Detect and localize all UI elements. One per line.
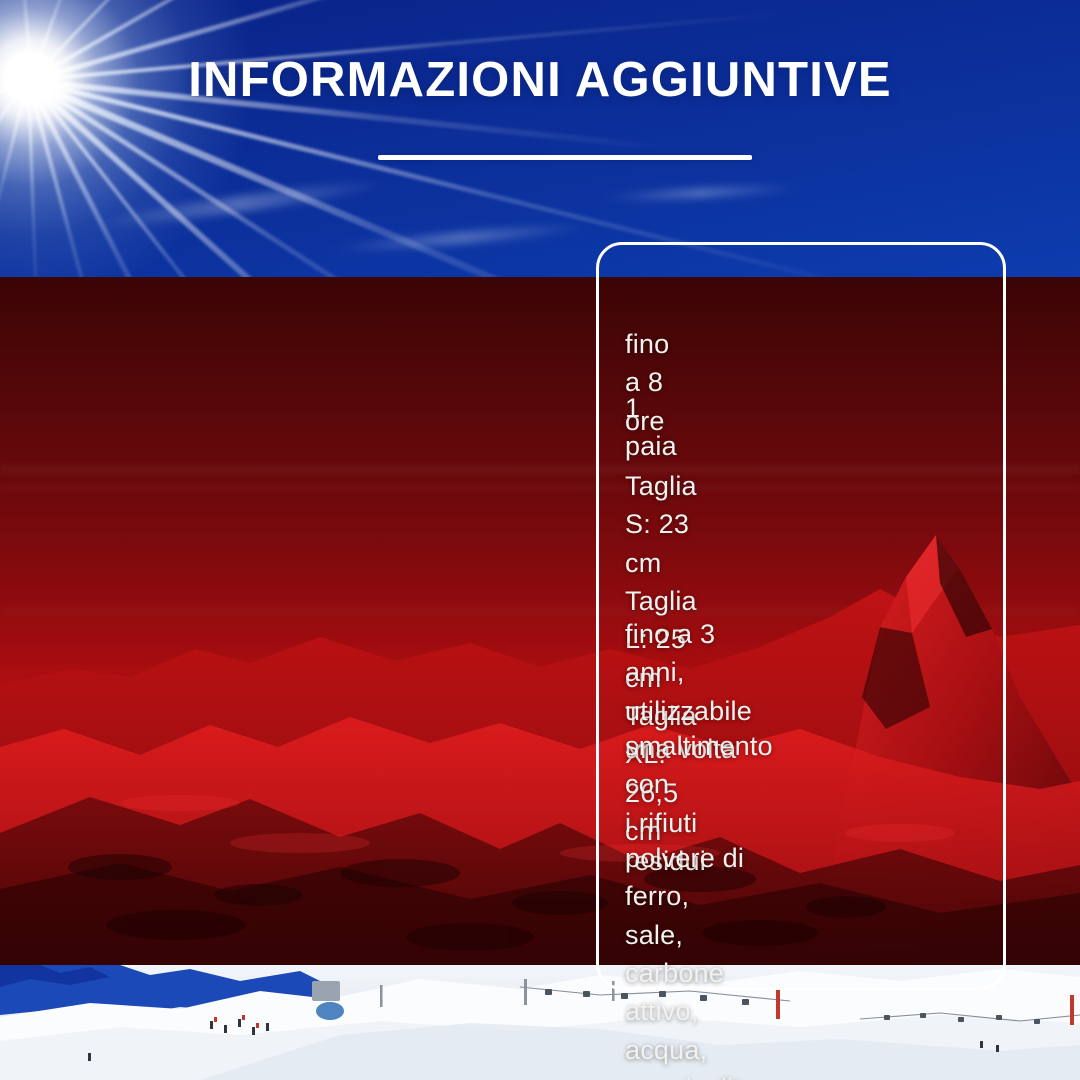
spec-value: 1 paia <box>625 389 677 466</box>
ski-slope-photo <box>0 965 1080 1080</box>
product-info-poster: INFORMAZIONI AGGIUNTIVE DURATA DEL CALOR… <box>0 0 1080 1080</box>
title-underline <box>378 155 752 160</box>
spec-table: DURATA DEL CALORE fino a 8 ore UNITÀ 1 p… <box>0 277 1080 967</box>
sun-burst-icon <box>0 0 300 320</box>
spec-value: polvere di ferro, sale, carbone attivo, … <box>625 839 756 1080</box>
ski-slope-icon <box>0 965 1080 1080</box>
page-title: INFORMAZIONI AGGIUNTIVE <box>0 56 1080 105</box>
